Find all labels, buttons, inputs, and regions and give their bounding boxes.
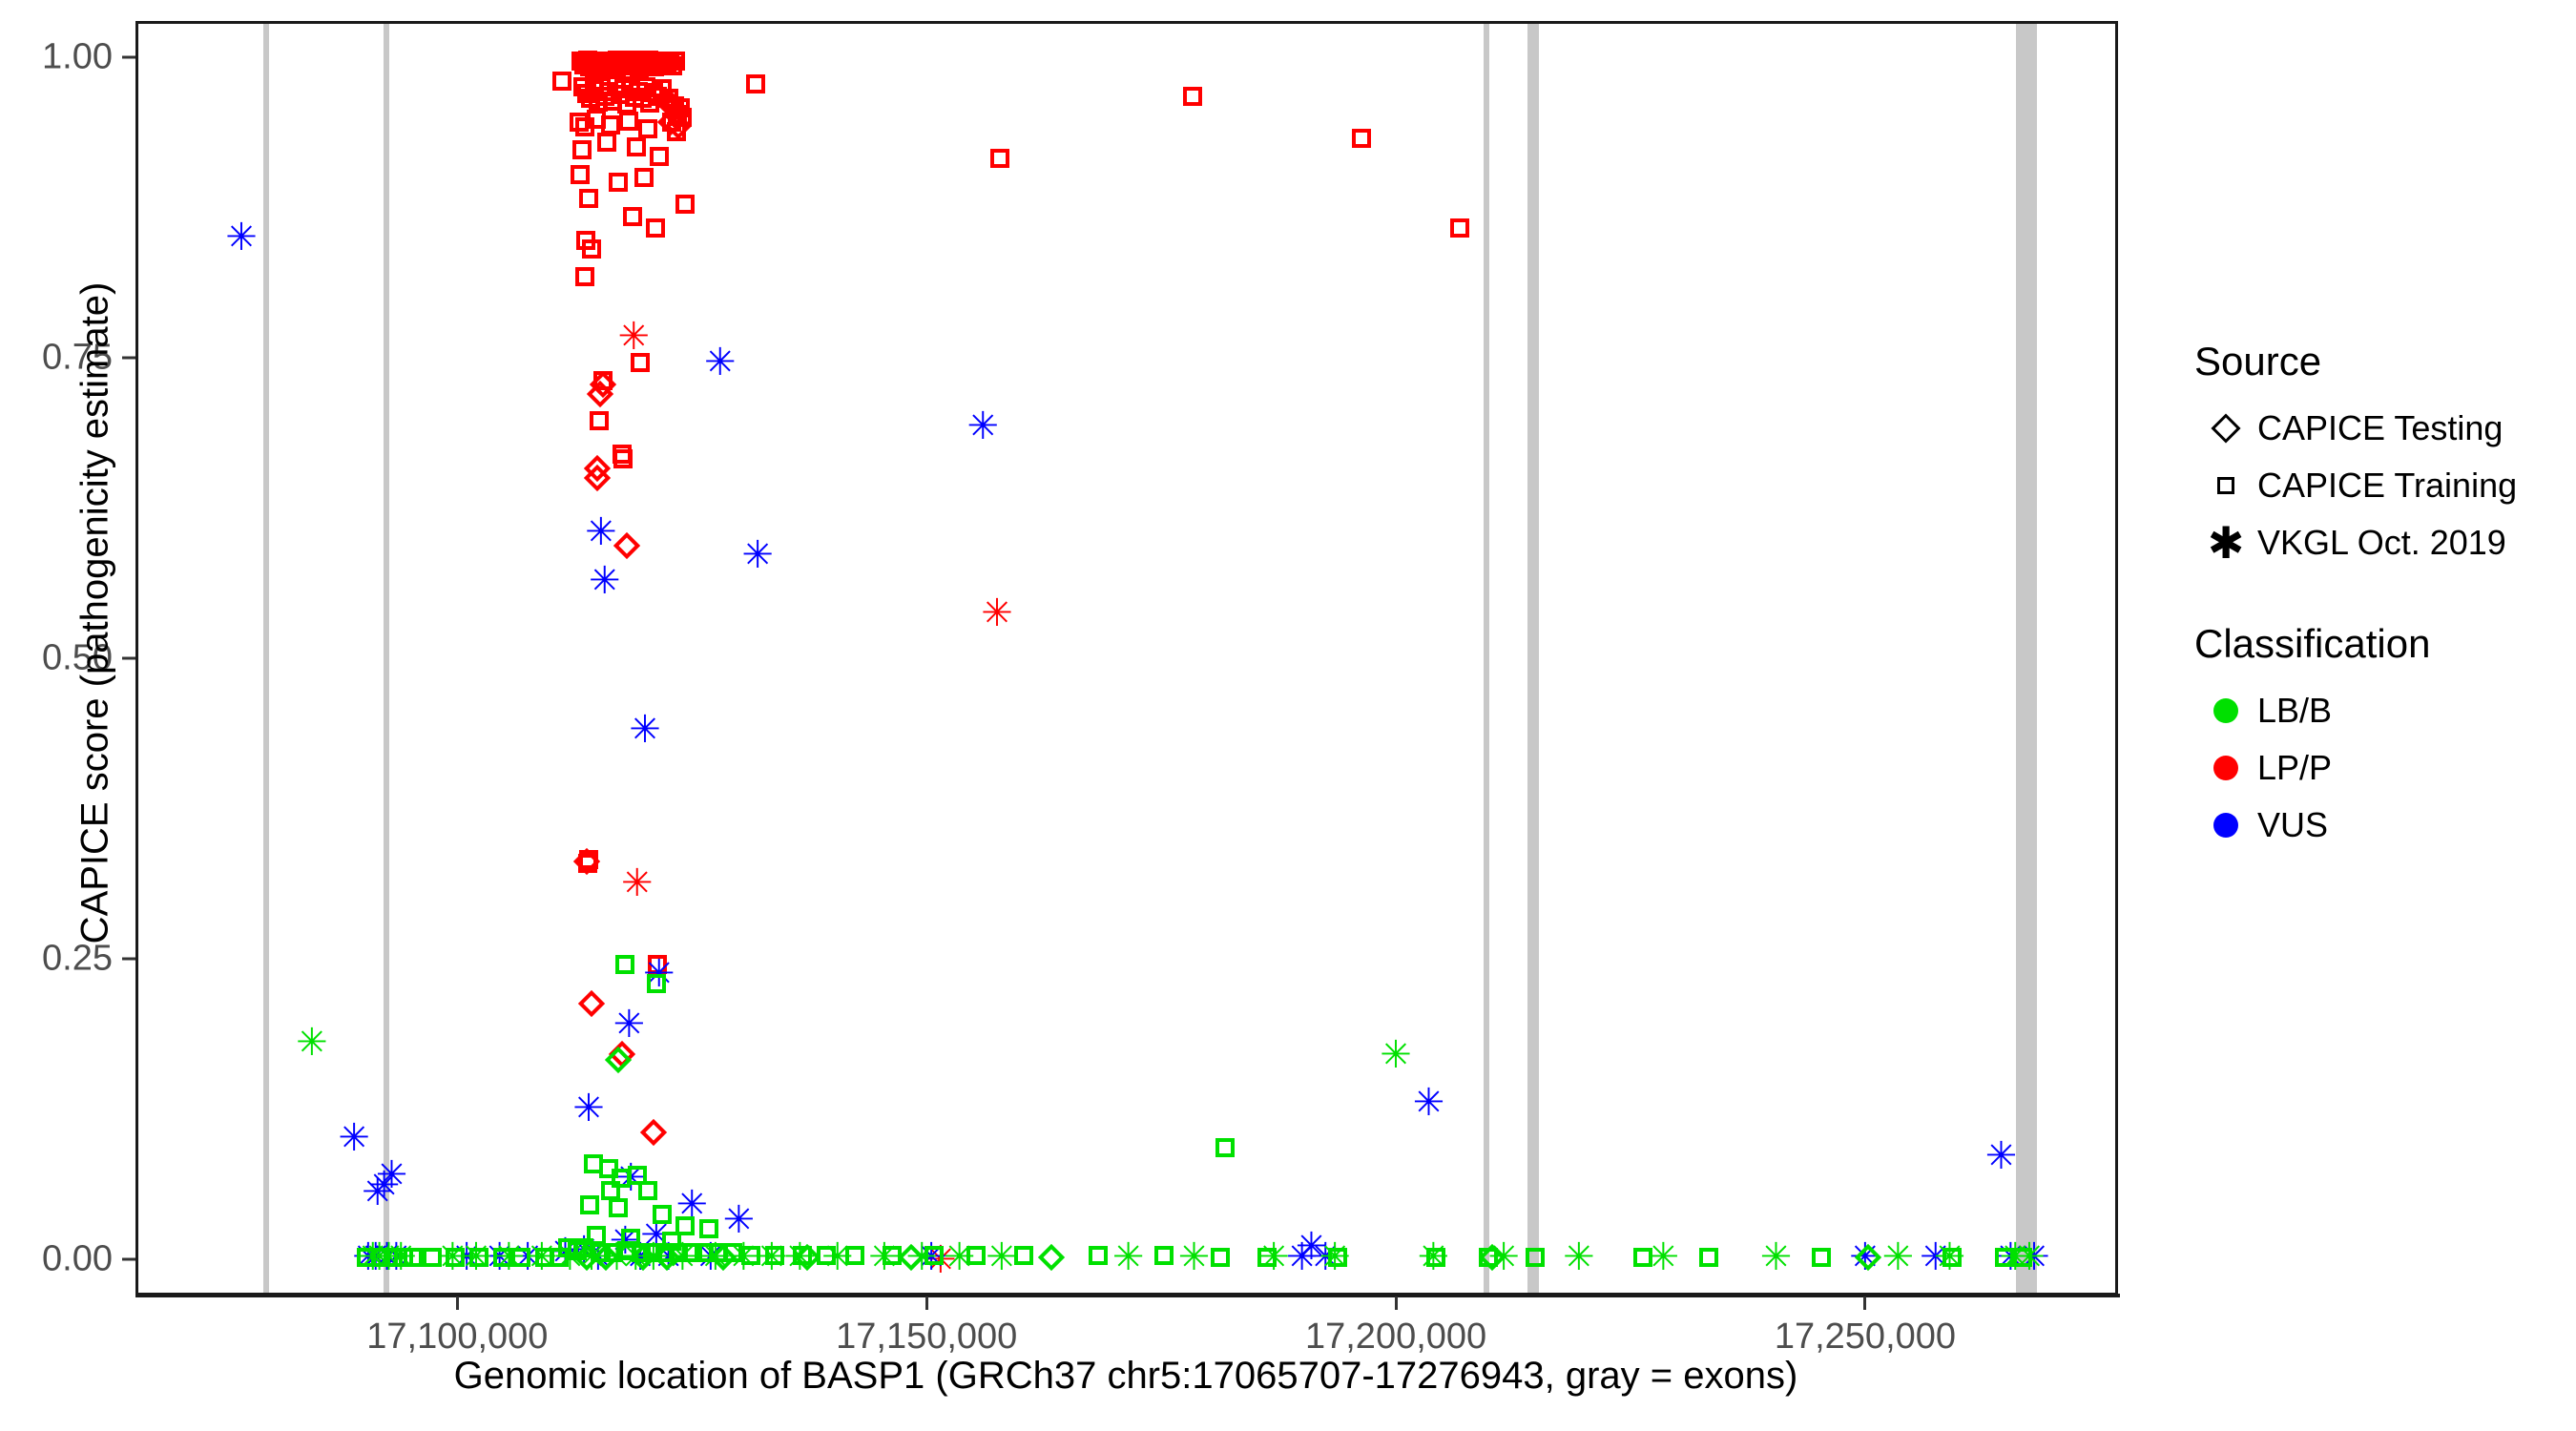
data-point: ✳ <box>727 1243 756 1272</box>
data-point <box>746 74 765 93</box>
x-tick-mark <box>1395 1296 1398 1310</box>
data-point <box>817 1246 836 1265</box>
data-point <box>627 137 646 156</box>
data-point <box>636 77 655 96</box>
data-point <box>600 55 619 74</box>
data-point <box>675 1216 695 1235</box>
data-point: ✳ <box>493 1243 522 1272</box>
data-point: ✳ <box>1178 1243 1207 1272</box>
x-tick-label: 17,250,000 <box>1722 1317 2008 1358</box>
data-point <box>423 1248 442 1267</box>
data-point: ✳ <box>526 1243 554 1272</box>
data-point: ✳ <box>699 1243 728 1272</box>
data-point <box>616 52 635 71</box>
data-point <box>654 52 674 71</box>
legend-title-classification: Classification <box>2194 621 2576 667</box>
data-point <box>575 267 594 286</box>
data-point: ✳ <box>1319 1243 1347 1272</box>
data-point <box>653 79 672 98</box>
legend-label-lbb: LB/B <box>2257 691 2332 731</box>
exon-region-bar <box>384 24 389 1293</box>
data-point <box>966 1246 986 1265</box>
exon-region-bar <box>1527 24 1539 1293</box>
data-point <box>580 1195 599 1214</box>
data-point <box>666 52 685 71</box>
data-point <box>610 54 629 73</box>
data-point <box>673 108 692 127</box>
data-point <box>723 1243 742 1262</box>
data-point <box>618 61 637 80</box>
data-point: ✳ <box>550 1238 578 1267</box>
data-point <box>634 52 653 71</box>
data-point <box>612 1169 631 1188</box>
data-point <box>1942 1248 1962 1267</box>
data-point: ✳ <box>617 322 646 351</box>
data-point: ✳ <box>1920 1243 1948 1272</box>
data-point <box>662 1232 681 1251</box>
data-point: ✳ <box>1985 1142 2014 1171</box>
legend-spacer <box>2194 571 2576 621</box>
data-point <box>573 848 600 875</box>
data-point <box>632 1243 651 1262</box>
data-point <box>579 189 598 208</box>
data-point <box>709 1243 728 1262</box>
x-axis-title: Genomic location of BASP1 (GRCh37 chr5:1… <box>134 1355 2118 1398</box>
data-point <box>613 56 633 75</box>
data-point <box>619 112 638 131</box>
data-point <box>599 82 618 101</box>
data-point <box>630 59 649 78</box>
y-tick-mark <box>122 657 135 660</box>
data-point <box>511 1248 530 1267</box>
data-point <box>625 88 644 107</box>
data-point <box>1450 218 1469 238</box>
data-point <box>652 55 671 74</box>
data-point <box>578 854 597 873</box>
data-point <box>592 77 611 96</box>
data-point: ✳ <box>1286 1243 1315 1272</box>
data-point: ✳ <box>484 1243 512 1272</box>
data-point <box>638 1181 657 1200</box>
data-point <box>593 371 613 390</box>
data-point <box>1257 1248 1277 1267</box>
data-point <box>631 353 650 372</box>
data-point <box>590 411 609 430</box>
data-point <box>550 1248 569 1267</box>
data-point <box>793 1246 812 1265</box>
data-point <box>1633 1248 1652 1267</box>
data-point <box>650 147 669 166</box>
data-point: ✳ <box>821 1243 850 1272</box>
data-point <box>594 60 613 79</box>
data-point: ✳ <box>450 1243 479 1272</box>
data-point <box>990 149 1009 168</box>
data-point <box>641 54 660 73</box>
data-point <box>628 1166 647 1185</box>
y-axis-title: CAPICE score (pathogenicity estimate) <box>74 3 117 1224</box>
data-point <box>621 78 640 97</box>
data-point <box>571 165 590 184</box>
y-tick-label: 0.00 <box>0 1239 113 1280</box>
data-point: ✳ <box>1760 1243 1789 1272</box>
data-point <box>665 96 684 115</box>
data-point <box>578 51 597 70</box>
data-point <box>394 1248 413 1267</box>
data-point <box>741 1246 760 1265</box>
data-point: ✳ <box>613 1010 641 1039</box>
data-point <box>639 51 658 70</box>
data-point <box>1215 1138 1235 1157</box>
data-point: ✳ <box>966 412 995 441</box>
data-point <box>634 168 654 187</box>
data-point: ✳ <box>868 1243 897 1272</box>
data-point <box>695 1243 714 1262</box>
data-point <box>604 1047 631 1073</box>
data-point <box>617 1241 636 1260</box>
data-point <box>671 98 690 117</box>
data-point <box>579 850 598 869</box>
data-point <box>587 381 613 407</box>
data-point <box>657 52 676 72</box>
data-point: ✳ <box>629 715 657 744</box>
data-point: ✳ <box>653 1243 681 1272</box>
y-tick-mark <box>122 55 135 58</box>
data-point: ✳ <box>575 1243 604 1272</box>
data-point: ✳ <box>1418 1243 1446 1272</box>
plot-area: ✳✳✳✳✳✳✳✳✳✳✳✳✳✳✳✳✳✳✳✳✳✳✳✳✳✳✳✳✳✳✳✳✳✳✳✳✳✳✳✳… <box>138 24 2115 1293</box>
data-point <box>586 54 605 73</box>
data-point <box>552 72 571 91</box>
data-point <box>654 1244 680 1271</box>
data-point <box>585 80 604 99</box>
data-point <box>584 465 611 491</box>
data-point <box>578 990 605 1017</box>
y-tick-mark <box>122 356 135 359</box>
data-point <box>648 87 667 106</box>
data-point: ✳ <box>568 1236 596 1265</box>
x-tick-label: 17,200,000 <box>1253 1317 1539 1358</box>
data-point <box>604 1243 623 1262</box>
data-point <box>623 207 642 226</box>
data-point <box>608 51 627 70</box>
data-point <box>589 56 608 75</box>
y-tick-mark <box>122 1258 135 1261</box>
data-point <box>596 54 615 73</box>
data-point <box>710 1244 737 1271</box>
data-point: ✳ <box>981 599 1009 628</box>
legend-title-source: Source <box>2194 339 2576 384</box>
data-point <box>577 84 596 103</box>
data-point <box>662 100 689 127</box>
data-point <box>1328 1248 1347 1267</box>
x-axis-line <box>135 1294 2120 1297</box>
data-point <box>581 89 600 108</box>
data-point <box>667 122 686 141</box>
legend-item-vus[interactable]: VUS <box>2194 797 2576 854</box>
data-point <box>446 1248 465 1267</box>
data-point: ✳ <box>1648 1243 1676 1272</box>
data-point <box>615 52 634 72</box>
data-point <box>597 133 616 152</box>
legend-item-capice-testing[interactable]: CAPICE Testing <box>2194 400 2576 457</box>
data-point <box>628 52 647 71</box>
data-point: ✳ <box>384 1243 413 1272</box>
data-point: ✳ <box>589 567 617 595</box>
data-point <box>601 115 620 135</box>
data-point: ✳ <box>905 1243 934 1272</box>
data-point: ✳ <box>723 1206 752 1234</box>
data-point <box>582 239 601 259</box>
data-point <box>669 1243 688 1262</box>
data-point: ✳ <box>695 1243 723 1272</box>
data-point <box>592 1244 619 1271</box>
data-point: ✳ <box>352 1243 381 1272</box>
data-point <box>595 87 614 106</box>
legend-item-lpp[interactable]: LP/P <box>2194 739 2576 797</box>
data-point <box>588 52 607 71</box>
data-point: ✳ <box>1487 1243 1516 1272</box>
blue-dot-icon <box>2194 797 2257 854</box>
data-point <box>592 52 612 71</box>
legend-label-vkgl: VKGL Oct. 2019 <box>2257 523 2506 563</box>
data-point: ✳ <box>585 518 613 547</box>
data-point <box>659 89 678 108</box>
data-point: ✳ <box>643 960 672 988</box>
y-tick-mark <box>122 958 135 961</box>
data-point <box>584 455 611 482</box>
legend: Source CAPICE Testing CAPICE Training ✱ … <box>2194 339 2576 854</box>
data-point: ✳ <box>376 1161 405 1190</box>
data-point <box>1154 1246 1174 1265</box>
data-point <box>592 1243 611 1262</box>
green-dot-icon <box>2194 682 2257 739</box>
data-point <box>657 109 684 135</box>
data-point <box>662 113 681 132</box>
data-point <box>635 56 654 75</box>
data-point <box>609 1198 628 1217</box>
data-point <box>622 51 641 70</box>
data-point <box>1426 1248 1445 1267</box>
data-point: ✳ <box>1934 1243 1963 1272</box>
data-point <box>649 52 668 71</box>
exon-region-bar <box>2016 24 2037 1293</box>
data-point <box>574 1238 593 1257</box>
data-point: ✳ <box>1380 1041 1408 1069</box>
data-point <box>608 1041 634 1068</box>
data-point <box>493 1248 512 1267</box>
data-point: ✳ <box>460 1243 488 1272</box>
data-point: ✳ <box>614 1164 643 1192</box>
data-point: ✳ <box>601 1243 630 1272</box>
legend-label-vus: VUS <box>2257 805 2328 845</box>
data-point <box>1183 87 1202 106</box>
data-point: ✳ <box>675 1191 704 1219</box>
data-point: ✳ <box>924 1246 953 1275</box>
data-point <box>580 57 599 76</box>
data-point <box>612 52 631 71</box>
data-point <box>577 52 596 71</box>
data-point <box>570 113 589 132</box>
data-point <box>647 974 666 993</box>
data-point <box>897 1244 924 1271</box>
data-point <box>611 85 630 104</box>
diamond-icon <box>2194 400 2257 457</box>
data-point <box>660 52 679 71</box>
data-point <box>633 89 652 108</box>
data-point <box>794 1244 821 1271</box>
data-point <box>585 59 604 78</box>
exon-region-bar <box>1484 24 1489 1293</box>
plot-panel: ✳✳✳✳✳✳✳✳✳✳✳✳✳✳✳✳✳✳✳✳✳✳✳✳✳✳✳✳✳✳✳✳✳✳✳✳✳✳✳✳… <box>135 21 2118 1296</box>
data-point <box>613 445 632 464</box>
data-point <box>646 218 665 238</box>
data-point <box>572 140 592 159</box>
legend-item-lbb[interactable]: LB/B <box>2194 682 2576 739</box>
data-point <box>1211 1248 1230 1267</box>
data-point <box>599 1159 618 1178</box>
data-point: ✳ <box>944 1243 972 1272</box>
legend-label-capice-testing: CAPICE Testing <box>2257 408 2503 448</box>
data-point: ✳ <box>1413 1089 1442 1117</box>
data-point: ✳ <box>667 1243 696 1272</box>
data-point <box>629 82 648 101</box>
data-point <box>643 52 662 71</box>
data-point: ✳ <box>1309 1243 1338 1272</box>
data-point <box>615 955 634 974</box>
data-point: ✳ <box>741 541 770 570</box>
asterisk-icon: ✱ <box>2194 514 2257 571</box>
data-point <box>1855 1244 1881 1271</box>
data-point: ✳ <box>225 223 254 252</box>
data-point <box>614 79 634 98</box>
data-point <box>683 1243 702 1262</box>
data-point <box>357 1248 376 1267</box>
data-point <box>620 54 639 73</box>
data-point <box>404 1248 423 1267</box>
data-point <box>655 89 682 115</box>
data-point: ✳ <box>1112 1243 1141 1272</box>
data-point <box>668 105 687 124</box>
data-point <box>1995 1248 2014 1267</box>
data-point <box>626 55 645 74</box>
square-icon <box>2194 457 2257 514</box>
data-point <box>663 56 682 75</box>
data-point <box>648 955 667 974</box>
data-point <box>699 1219 718 1238</box>
data-point <box>571 52 591 71</box>
data-point: ✳ <box>640 1221 669 1250</box>
data-point: ✳ <box>621 869 650 898</box>
data-point <box>584 1154 603 1173</box>
data-point <box>640 1119 667 1146</box>
data-point <box>660 94 687 121</box>
data-point <box>644 83 663 102</box>
data-point <box>643 1243 662 1262</box>
data-point <box>630 1244 656 1271</box>
data-point: ✳ <box>1257 1243 1286 1272</box>
data-point <box>613 532 640 559</box>
data-point <box>607 75 626 94</box>
data-point <box>589 93 608 112</box>
legend-label-capice-training: CAPICE Training <box>2257 466 2517 506</box>
data-point <box>664 113 691 139</box>
data-point <box>640 93 659 113</box>
data-point <box>1014 1246 1033 1265</box>
data-point <box>583 52 602 71</box>
data-point: ✳ <box>915 1243 944 1272</box>
x-tick-label: 17,150,000 <box>783 1317 1070 1358</box>
data-point <box>1812 1248 1831 1267</box>
data-point: ✳ <box>756 1243 784 1272</box>
data-point <box>606 59 625 78</box>
data-point <box>617 94 636 114</box>
data-point <box>765 1246 784 1265</box>
legend-item-vkgl[interactable]: ✱ VKGL Oct. 2019 <box>2194 514 2576 571</box>
data-point <box>621 1229 640 1248</box>
data-point <box>1352 129 1371 148</box>
data-point <box>675 195 695 214</box>
data-point <box>574 55 593 74</box>
exon-region-bar <box>263 24 269 1293</box>
data-point: ✳ <box>1563 1243 1591 1272</box>
capice-scatter-figure: 0.000.250.500.751.00 CAPICE score (patho… <box>0 0 2576 1431</box>
data-point: ✳ <box>296 1028 324 1057</box>
data-point: ✳ <box>1881 1243 1910 1272</box>
data-point <box>845 1246 864 1265</box>
data-point <box>632 52 651 72</box>
data-point: ✳ <box>553 1243 582 1272</box>
data-point <box>653 1205 672 1224</box>
data-point: ✳ <box>783 1243 812 1272</box>
data-point: ✳ <box>986 1243 1014 1272</box>
data-point <box>587 1226 606 1245</box>
data-point <box>1699 1248 1718 1267</box>
data-point <box>1038 1244 1065 1271</box>
data-point <box>883 1246 902 1265</box>
data-point <box>645 57 664 76</box>
data-point: ✳ <box>511 1243 540 1272</box>
red-dot-icon <box>2194 739 2257 797</box>
data-point <box>1089 1246 1108 1265</box>
data-point: ✳ <box>338 1124 366 1152</box>
data-point <box>598 52 617 71</box>
data-point <box>573 1244 600 1271</box>
data-point <box>655 1243 675 1262</box>
data-point: ✳ <box>1296 1233 1324 1261</box>
data-point <box>568 1241 587 1260</box>
data-point <box>602 52 621 72</box>
data-point: ✳ <box>582 1243 611 1272</box>
data-point <box>638 119 657 138</box>
data-point <box>637 52 656 71</box>
data-point <box>603 92 622 111</box>
data-point <box>535 1248 554 1267</box>
data-point <box>613 449 633 468</box>
data-point <box>587 110 606 129</box>
legend-item-capice-training[interactable]: CAPICE Training <box>2194 457 2576 514</box>
data-point <box>575 117 594 136</box>
data-point <box>604 52 623 71</box>
x-tick-label: 17,100,000 <box>314 1317 600 1358</box>
data-point <box>558 1238 577 1257</box>
legend-label-lpp: LP/P <box>2257 748 2332 788</box>
data-point <box>601 1181 620 1200</box>
data-point <box>582 52 601 72</box>
data-point: ✳ <box>572 1094 601 1123</box>
x-tick-mark <box>1863 1296 1866 1310</box>
data-point <box>573 77 592 96</box>
data-point <box>924 1246 944 1265</box>
